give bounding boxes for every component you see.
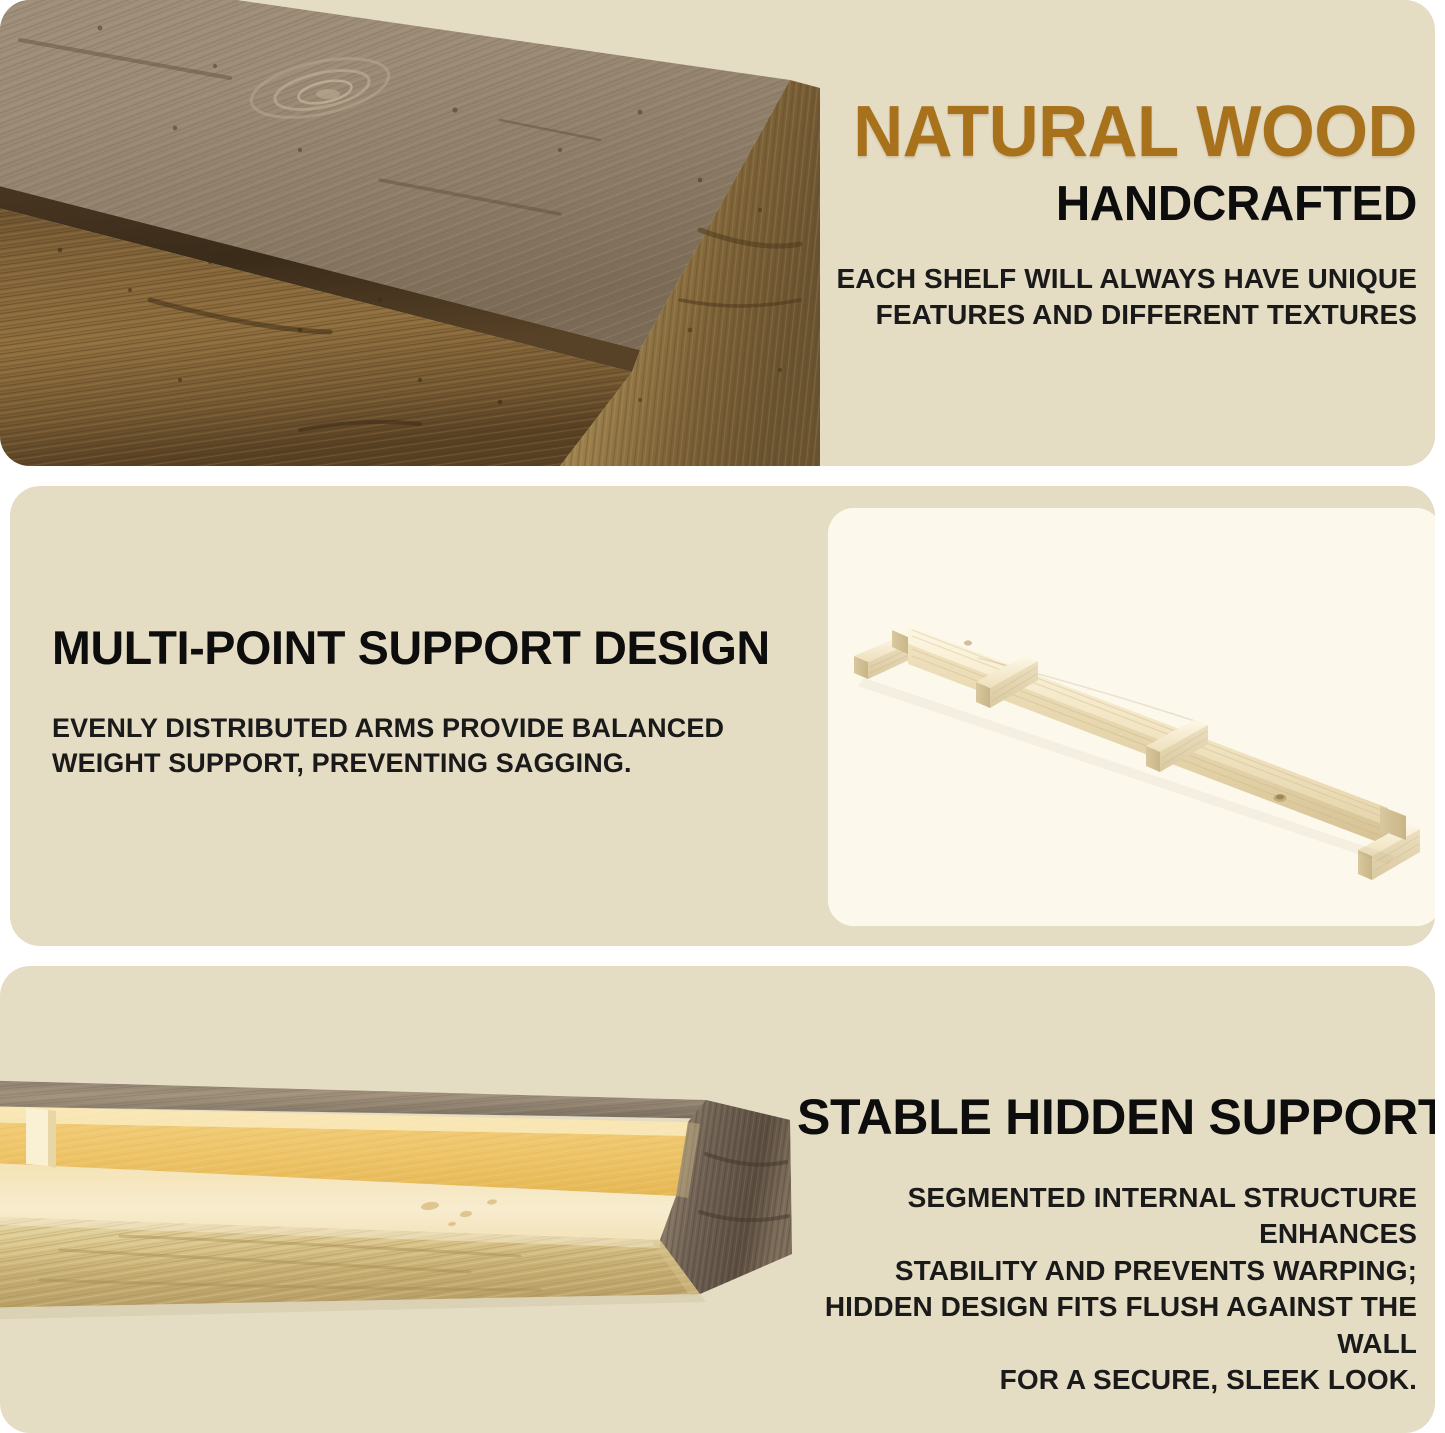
panel-multi-point-support: MULTI-POINT SUPPORT DESIGN EVENLY DISTRI…: [10, 486, 1435, 946]
hollow-shelf-image: [0, 1044, 820, 1364]
body-line: STABILITY AND PREVENTS WARPING;: [797, 1253, 1417, 1289]
natural-wood-copy: NATURAL WOOD HANDCRAFTED EACH SHELF WILL…: [797, 96, 1417, 334]
pine-bracket-illustration: [828, 508, 1435, 926]
panel-title-natural-wood: NATURAL WOOD: [822, 96, 1417, 168]
body-line: FOR A SECURE, SLEEK LOOK.: [797, 1362, 1417, 1398]
panel-body-natural-wood: EACH SHELF WILL ALWAYS HAVE UNIQUE FEATU…: [797, 261, 1417, 334]
internal-divider: [26, 1108, 56, 1168]
body-line: WEIGHT SUPPORT, PREVENTING SAGGING.: [52, 746, 792, 781]
panel-subtitle-handcrafted: HANDCRAFTED: [816, 180, 1417, 229]
panel-body-multi-point: EVENLY DISTRIBUTED ARMS PROVIDE BALANCED…: [52, 711, 792, 781]
panel-natural-wood: NATURAL WOOD HANDCRAFTED EACH SHELF WILL…: [0, 0, 1435, 466]
body-line: FEATURES AND DIFFERENT TEXTURES: [797, 297, 1417, 333]
body-line: EACH SHELF WILL ALWAYS HAVE UNIQUE: [797, 261, 1417, 297]
panel-stable-hidden-support: STABLE HIDDEN SUPPORT SEGMENTED INTERNAL…: [0, 966, 1435, 1433]
hidden-support-copy: STABLE HIDDEN SUPPORT SEGMENTED INTERNAL…: [797, 1092, 1417, 1398]
panel-title-hidden-support: STABLE HIDDEN SUPPORT: [797, 1092, 1417, 1142]
body-line: EVENLY DISTRIBUTED ARMS PROVIDE BALANCED: [52, 711, 792, 746]
infographic-page: NATURAL WOOD HANDCRAFTED EACH SHELF WILL…: [0, 0, 1445, 1433]
body-line: HIDDEN DESIGN FITS FLUSH AGAINST THE WAL…: [797, 1289, 1417, 1362]
body-line: SEGMENTED INTERNAL STRUCTURE ENHANCES: [797, 1180, 1417, 1253]
panel-title-multi-point: MULTI-POINT SUPPORT DESIGN: [52, 624, 785, 671]
bracket-photo-card: [828, 508, 1435, 926]
panel-body-hidden-support: SEGMENTED INTERNAL STRUCTURE ENHANCES ST…: [797, 1180, 1417, 1398]
rustic-wood-beam-image: [0, 0, 820, 466]
multi-point-copy: MULTI-POINT SUPPORT DESIGN EVENLY DISTRI…: [52, 624, 792, 781]
